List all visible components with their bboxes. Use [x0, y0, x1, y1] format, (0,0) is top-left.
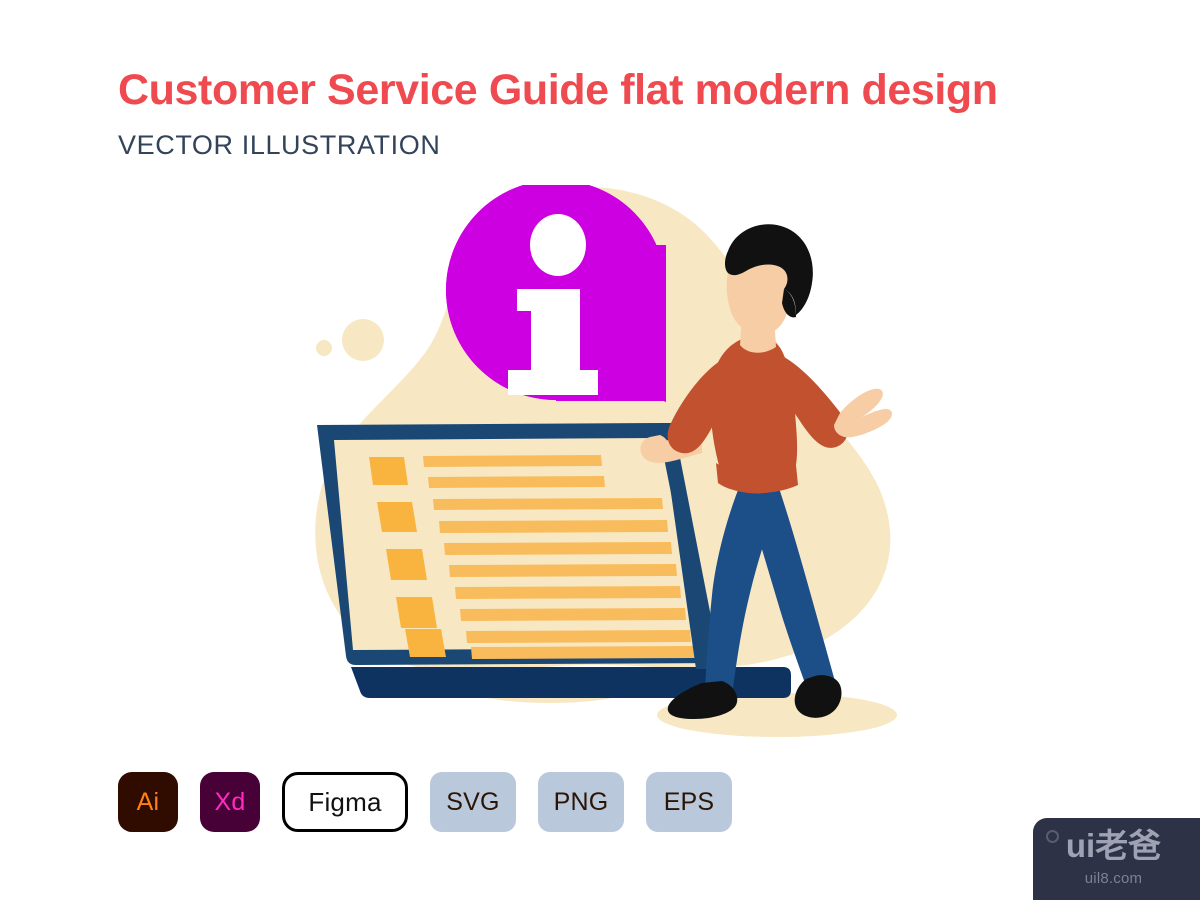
info-glyph-dot: [530, 214, 586, 276]
screen-line: [471, 646, 695, 659]
screen-line: [439, 520, 668, 533]
illustration-canvas: [250, 185, 950, 755]
page-title: Customer Service Guide flat modern desig…: [118, 66, 998, 114]
screen-line: [444, 542, 672, 555]
screen-bullet: [386, 549, 427, 580]
badge-xd[interactable]: Xd: [200, 772, 260, 832]
screen-line: [455, 586, 681, 599]
screen-bullet: [396, 597, 437, 628]
decor-circle-mid-right: [821, 481, 855, 515]
badge-eps[interactable]: EPS: [646, 772, 732, 832]
screen-line: [460, 608, 686, 621]
illustration-svg: [250, 185, 950, 755]
screen-line: [428, 476, 605, 488]
badge-svg[interactable]: SVG: [430, 772, 516, 832]
screen-bullet: [405, 629, 446, 657]
page-root: Customer Service Guide flat modern desig…: [0, 0, 1200, 900]
screen-line: [433, 498, 663, 510]
watermark-url: uil8.com: [1033, 870, 1194, 887]
person-hand-right: [834, 389, 892, 438]
badge-ai[interactable]: Ai: [118, 772, 178, 832]
badge-figma[interactable]: Figma: [282, 772, 408, 832]
screen-line: [466, 630, 691, 643]
screen-line: [449, 564, 677, 577]
screen-bullet: [377, 502, 417, 532]
badge-png[interactable]: PNG: [538, 772, 624, 832]
screen-bullet: [369, 457, 408, 485]
decor-circle-small-left: [316, 340, 332, 356]
watermark-badge: ui老爸 uil8.com: [1033, 818, 1200, 900]
header-block: Customer Service Guide flat modern desig…: [118, 66, 998, 161]
decor-circle-large-left: [342, 319, 384, 361]
page-subtitle: VECTOR ILLUSTRATION: [118, 130, 998, 161]
screen-line: [423, 455, 602, 467]
watermark-brand: ui老爸: [1033, 829, 1194, 862]
format-badge-row: Ai Xd Figma SVG PNG EPS: [118, 772, 732, 832]
